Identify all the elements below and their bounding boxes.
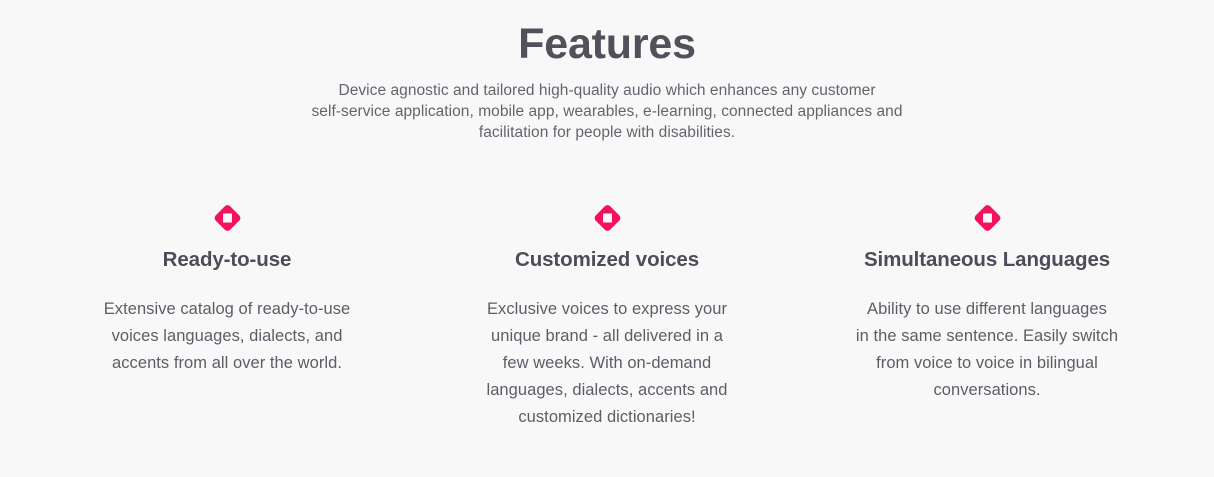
feature-description-line: languages, dialects, accents and: [468, 377, 746, 404]
subtitle-line: self-service application, mobile app, we…: [307, 101, 907, 122]
feature-description-line: from voice to voice in bilingual: [848, 350, 1126, 377]
feature-list: Ready-to-use Extensive catalog of ready-…: [0, 196, 1214, 431]
feature-description-line: few weeks. With on-demand: [468, 350, 746, 377]
feature-title: Ready-to-use: [37, 246, 417, 274]
subtitle-line: facilitation for people with disabilitie…: [307, 122, 907, 143]
diamond-icon: [593, 203, 622, 233]
feature-icon-container: [37, 196, 417, 240]
feature-title: Simultaneous Languages: [797, 246, 1177, 274]
subtitle-line: Device agnostic and tailored high-qualit…: [307, 80, 907, 101]
feature-card-simultaneous-languages: Simultaneous Languages Ability to use di…: [797, 196, 1177, 404]
diamond-icon: [213, 203, 242, 233]
feature-description-line: Exclusive voices to express your: [468, 296, 746, 323]
features-section: Features Device agnostic and tailored hi…: [0, 0, 1214, 477]
feature-description-line: conversations.: [848, 377, 1126, 404]
feature-description: Extensive catalog of ready-to-use voices…: [88, 296, 366, 377]
feature-card-customized-voices: Customized voices Exclusive voices to ex…: [417, 196, 797, 431]
feature-description-line: Extensive catalog of ready-to-use: [88, 296, 366, 323]
feature-icon-container: [797, 196, 1177, 240]
feature-description-line: unique brand - all delivered in a: [468, 323, 746, 350]
feature-description: Ability to use different languages in th…: [848, 296, 1126, 404]
feature-card-ready-to-use: Ready-to-use Extensive catalog of ready-…: [37, 196, 417, 377]
section-header: Features Device agnostic and tailored hi…: [0, 0, 1214, 143]
page-title: Features: [0, 17, 1214, 71]
feature-description-line: in the same sentence. Easily switch: [848, 323, 1126, 350]
feature-description: Exclusive voices to express your unique …: [468, 296, 746, 431]
feature-description-line: Ability to use different languages: [848, 296, 1126, 323]
feature-icon-container: [417, 196, 797, 240]
feature-description-line: accents from all over the world.: [88, 350, 366, 377]
feature-description-line: voices languages, dialects, and: [88, 323, 366, 350]
feature-description-line: customized dictionaries!: [468, 404, 746, 431]
diamond-icon: [973, 203, 1002, 233]
feature-title: Customized voices: [417, 246, 797, 274]
section-subtitle: Device agnostic and tailored high-qualit…: [307, 80, 907, 143]
